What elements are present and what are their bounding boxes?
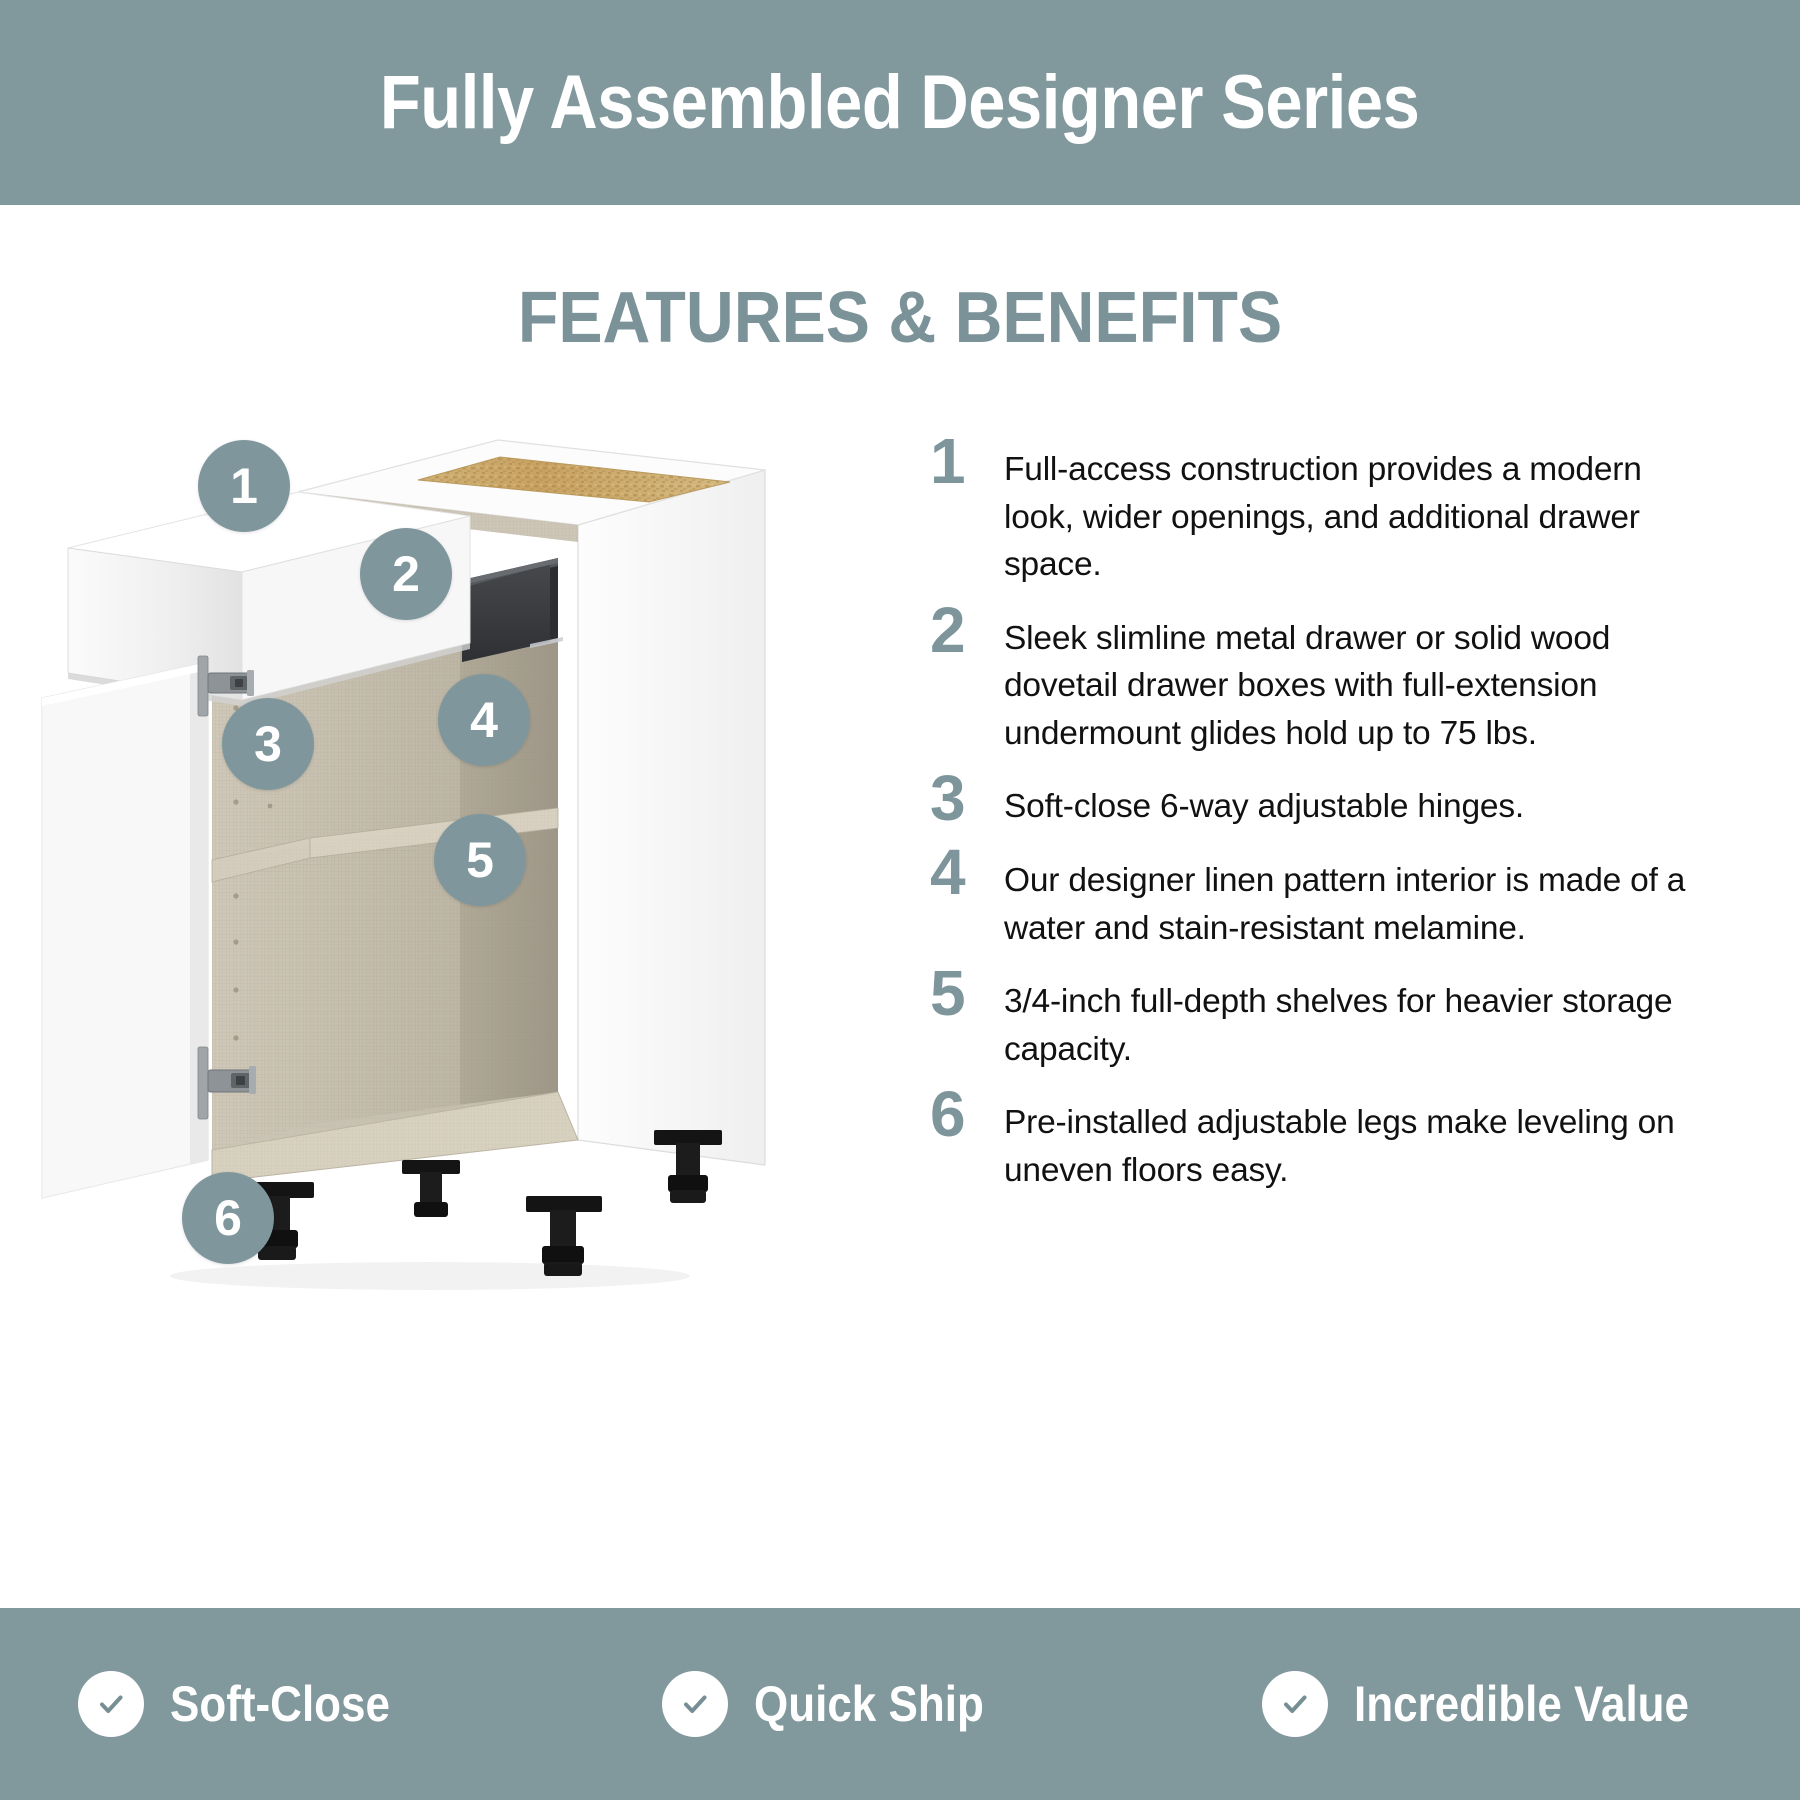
footer-badge-incredible-value: Incredible Value xyxy=(1200,1671,1800,1737)
feature-number: 1 xyxy=(930,434,1004,489)
feature-description: Sleek slimline metal drawer or solid woo… xyxy=(1004,609,1720,758)
section-title: FEATURES & BENEFITS xyxy=(72,282,1728,354)
header-banner: Fully Assembled Designer Series xyxy=(0,0,1800,205)
header-title: Fully Assembled Designer Series xyxy=(380,65,1420,141)
feature-number: 6 xyxy=(930,1087,1004,1142)
feature-item: 2 Sleek slimline metal drawer or solid w… xyxy=(930,609,1720,758)
callout-2-label: 2 xyxy=(392,549,420,599)
adjustable-leg-front-right xyxy=(402,1160,460,1217)
feature-item: 1 Full-access construction provides a mo… xyxy=(930,440,1720,589)
footer-label: Quick Ship xyxy=(754,1679,984,1729)
feature-item: 6 Pre-installed adjustable legs make lev… xyxy=(930,1093,1720,1194)
check-circle-icon xyxy=(78,1671,144,1737)
feature-item: 3 Soft-close 6-way adjustable hinges. xyxy=(930,777,1720,831)
feature-number: 4 xyxy=(930,845,1004,900)
callout-6-label: 6 xyxy=(214,1193,242,1243)
callout-3-label: 3 xyxy=(254,719,282,769)
feature-description: Pre-installed adjustable legs make level… xyxy=(1004,1093,1720,1194)
callout-1: 1 xyxy=(198,440,290,532)
callout-2: 2 xyxy=(360,528,452,620)
feature-number: 3 xyxy=(930,771,1004,826)
callout-5-label: 5 xyxy=(466,835,494,885)
footer-banner: Soft-Close Quick Ship Incredible Value xyxy=(0,1608,1800,1800)
callout-3: 3 xyxy=(222,698,314,790)
footer-badge-soft-close: Soft-Close xyxy=(0,1671,600,1737)
cabinet-door-open xyxy=(42,662,208,1198)
callout-4-label: 4 xyxy=(470,695,498,745)
feature-item: 5 3/4-inch full-depth shelves for heavie… xyxy=(930,972,1720,1073)
footer-badge-quick-ship: Quick Ship xyxy=(600,1671,1200,1737)
callout-1-label: 1 xyxy=(230,461,258,511)
feature-description: 3/4-inch full-depth shelves for heavier … xyxy=(1004,972,1720,1073)
features-list: 1 Full-access construction provides a mo… xyxy=(930,440,1720,1214)
check-circle-icon xyxy=(1262,1671,1328,1737)
feature-description: Full-access construction provides a mode… xyxy=(1004,440,1720,589)
check-circle-icon xyxy=(662,1671,728,1737)
feature-description: Our designer linen pattern interior is m… xyxy=(1004,851,1720,952)
feature-number: 5 xyxy=(930,966,1004,1021)
cabinet-right-side-panel xyxy=(578,470,765,1165)
cabinet-illustration: 1 2 3 4 5 6 xyxy=(30,430,820,1340)
feature-number: 2 xyxy=(930,603,1004,658)
callout-4: 4 xyxy=(438,674,530,766)
main-content: 1 2 3 4 5 6 1 Full-access construction p… xyxy=(0,420,1800,1540)
feature-description: Soft-close 6-way adjustable hinges. xyxy=(1004,777,1720,831)
adjustable-leg-rear-right xyxy=(654,1130,722,1203)
footer-label: Incredible Value xyxy=(1354,1679,1689,1729)
callout-6: 6 xyxy=(182,1172,274,1264)
footer-label: Soft-Close xyxy=(170,1679,390,1729)
feature-item: 4 Our designer linen pattern interior is… xyxy=(930,851,1720,952)
infographic-page: Fully Assembled Designer Series FEATURES… xyxy=(0,0,1800,1800)
callout-5: 5 xyxy=(434,814,526,906)
